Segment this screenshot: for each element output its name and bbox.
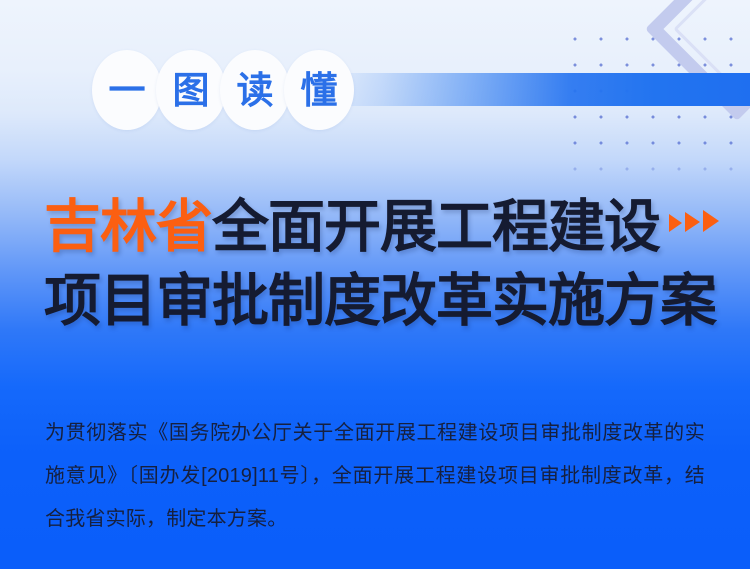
read-at-a-glance-badge: 一 图 读 懂 [92, 50, 348, 130]
page-title-line-2: 项目审批制度改革实施方案 [44, 264, 744, 338]
page-title-line-1: 吉林省全面开展工程建设 [44, 176, 744, 264]
badge-pill-1: 一 [92, 50, 162, 130]
badge-char-3: 读 [237, 72, 274, 109]
badge-char-2: 图 [173, 72, 210, 109]
intro-paragraph: 为贯彻落实《国务院办公厅关于全面开展工程建设项目审批制度改革的实施意见》〔国办发… [45, 412, 705, 541]
badge-pill-2: 图 [156, 50, 226, 130]
infographic-poster: 一 图 读 懂 吉林省全面开展工程建设 项目审批制度改革实施方案 为贯彻落实《国… [0, 0, 750, 569]
badge-pill-3: 读 [220, 50, 290, 130]
dot-grid-decoration [558, 22, 750, 192]
page-title-line-1-rest: 全面开展工程建设 [212, 195, 660, 259]
diamond-outline-icon [645, 0, 750, 121]
badge-char-4: 懂 [301, 72, 338, 109]
diamond-inner-outline-icon [673, 0, 750, 93]
badge-char-1: 一 [109, 72, 146, 109]
page-title: 吉林省全面开展工程建设 项目审批制度改革实施方案 [44, 176, 744, 338]
badge-pill-4: 懂 [284, 50, 354, 130]
triple-arrow-icon [666, 176, 719, 250]
page-title-province: 吉林省 [44, 195, 212, 259]
gradient-ribbon-decoration [322, 73, 750, 106]
